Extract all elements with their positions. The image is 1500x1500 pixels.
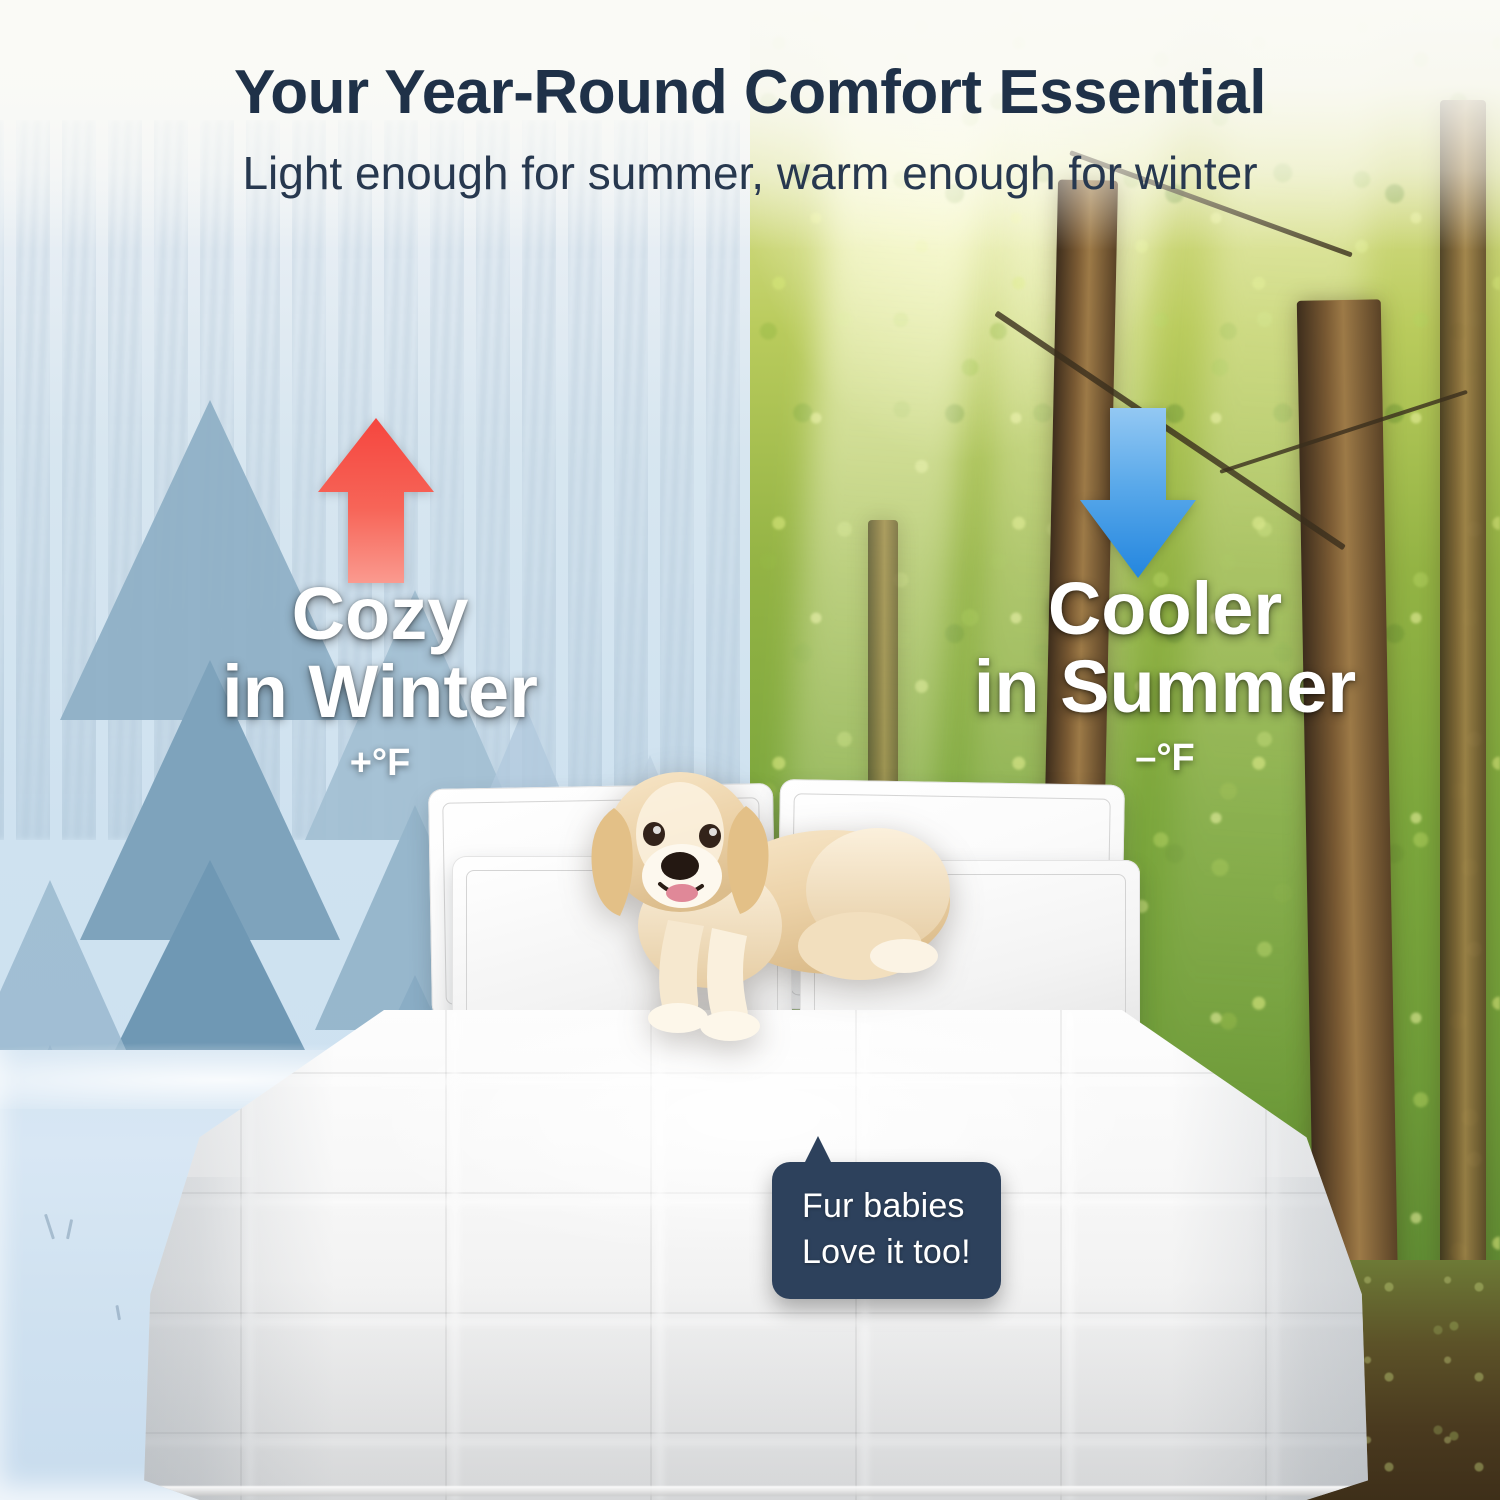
winter-label-line2: in Winter — [110, 653, 650, 731]
quilted-comforter — [138, 1010, 1368, 1500]
product-lifestyle-image: Your Year-Round Comfort Essential Light … — [0, 0, 1500, 1500]
page-subtitle: Light enough for summer, warm enough for… — [0, 150, 1500, 196]
winter-label-line1: Cozy — [110, 575, 650, 653]
comforter-fold-left — [138, 1177, 258, 1500]
comforter-fold-right — [1248, 1177, 1368, 1500]
comforter-hem — [138, 1486, 1368, 1496]
bed-scene — [0, 780, 1500, 1500]
summer-label-line2: in Summer — [880, 648, 1450, 726]
bubble-tail-icon — [804, 1136, 832, 1164]
comforter-shading — [138, 1010, 1368, 1500]
arrow-up-icon — [318, 418, 434, 583]
arrow-down-icon — [1080, 408, 1196, 578]
summer-callout: Cooler in Summer –°F — [880, 570, 1450, 780]
bubble-line-2: Love it too! — [802, 1230, 971, 1276]
summer-label-line1: Cooler — [880, 570, 1450, 648]
bubble-line-1: Fur babies — [802, 1184, 971, 1230]
page-title: Your Year-Round Comfort Essential — [0, 62, 1500, 124]
pet-callout-bubble: Fur babies Love it too! — [772, 1162, 1001, 1299]
golden-retriever-puppy — [560, 750, 980, 1050]
